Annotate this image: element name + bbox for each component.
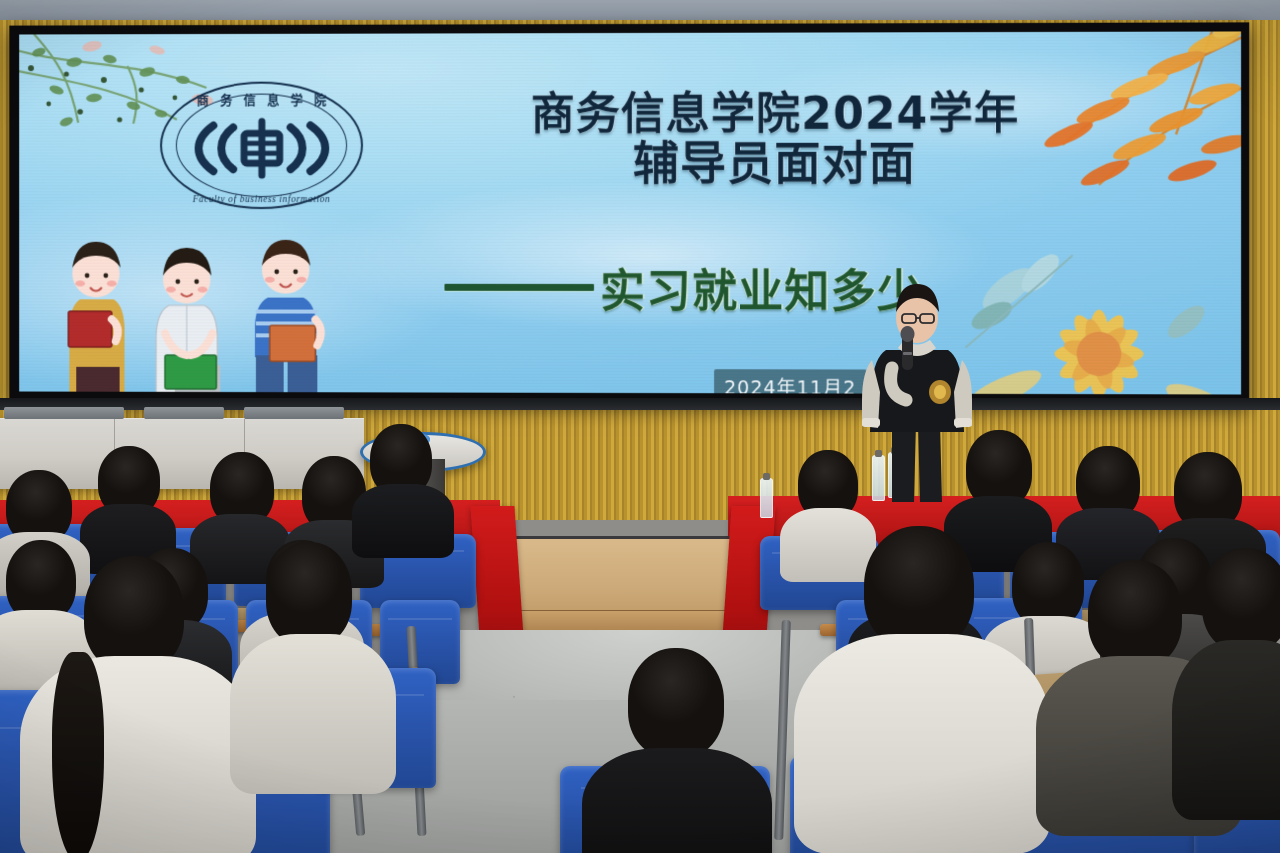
audience-person-b5 (360, 424, 446, 544)
subtitle-dash-rule (444, 284, 594, 291)
emblem-chinese-name: 商务信息学院 (165, 89, 358, 108)
led-screen-bezel: 商务信息学院 Faculty of business information (9, 22, 1249, 405)
audience-person-f2 (236, 542, 386, 782)
cartoon-student-yellow (68, 242, 124, 395)
business-information-monogram-icon (187, 117, 335, 179)
water-bottle-3 (760, 478, 773, 518)
led-screen: 商务信息学院 Faculty of business information (19, 31, 1241, 394)
title-line-2: 辅导员面对面 (375, 139, 1178, 187)
presentation-title: 商务信息学院2024学年 辅导员面对面 (375, 92, 1178, 187)
audience-person-f1 (30, 556, 240, 853)
title-line-1: 商务信息学院2024学年 (375, 92, 1178, 138)
cartoon-student-blue (255, 240, 321, 395)
ponytail (52, 652, 104, 853)
cartoon-student-white (156, 248, 220, 395)
desk-monitor-1 (4, 407, 124, 419)
audience-person-b1 (84, 446, 170, 556)
lecture-hall-photo: 商务信息学院 Faculty of business information (0, 0, 1280, 853)
audience-person-f5 (1186, 548, 1280, 798)
college-emblem: 商务信息学院 Faculty of business information (160, 81, 363, 209)
audience-person-f3 (806, 526, 1036, 836)
emblem-latin-name: Faculty of business information (160, 195, 363, 205)
desk-monitor-2 (144, 407, 224, 419)
desk-monitor-3 (244, 407, 344, 419)
cartoon-students-illustration (49, 208, 395, 394)
presentation-subtitle: 实习就业知多少 (444, 255, 1178, 321)
handheld-microphone-icon (901, 326, 915, 370)
event-date-label: 2024年11月2 (714, 369, 866, 394)
audience-person-f6 (592, 648, 762, 853)
stage-steps (498, 536, 730, 635)
